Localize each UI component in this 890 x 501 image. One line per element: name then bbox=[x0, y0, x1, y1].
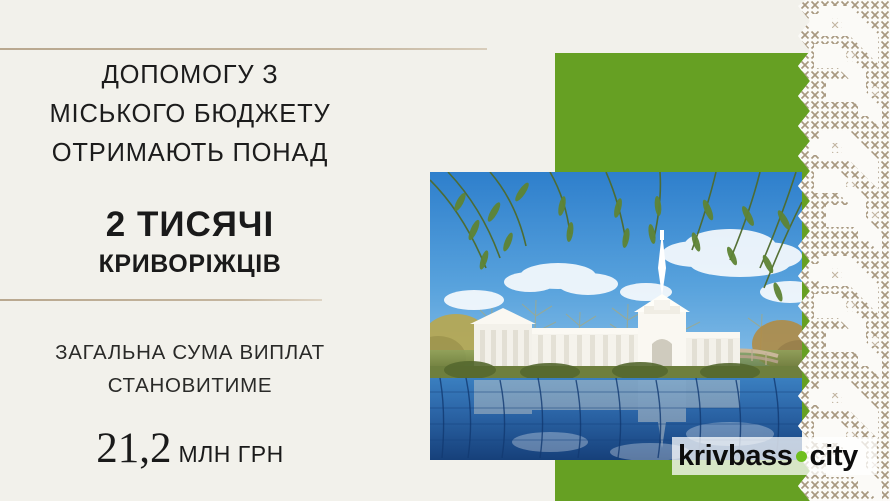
headline-block: ДОПОМОГУ З МІСЬКОГО БЮДЖЕТУ ОТРИМАЮТЬ ПО… bbox=[0, 56, 380, 173]
highlight-count: 2 ТИСЯЧІ bbox=[0, 204, 380, 246]
headline-line-3: ОТРИМАЮТЬ ПОНАД bbox=[0, 134, 380, 173]
poster-canvas: krivbasscity ДОПОМОГУ З МІСЬКОГО БЮДЖЕТУ… bbox=[0, 0, 890, 501]
amount-unit: МЛН ГРН bbox=[179, 441, 284, 467]
logo-suffix: city bbox=[810, 440, 858, 472]
logo-dot-icon bbox=[796, 451, 807, 462]
subhead-block: ЗАГАЛЬНА СУМА ВИПЛАТ СТАНОВИТИМЕ bbox=[0, 336, 380, 402]
divider-top bbox=[0, 48, 487, 50]
amount-value: 21,2 bbox=[96, 425, 171, 472]
site-logo[interactable]: krivbasscity bbox=[678, 440, 858, 473]
headline-line-1: ДОПОМОГУ З bbox=[0, 56, 380, 95]
logo-name: krivbass bbox=[678, 440, 793, 472]
amount-block: 21,2МЛН ГРН bbox=[0, 424, 380, 473]
headline-line-2: МІСЬКОГО БЮДЖЕТУ bbox=[0, 95, 380, 134]
text-column: ДОПОМОГУ З МІСЬКОГО БЮДЖЕТУ ОТРИМАЮТЬ ПО… bbox=[0, 0, 520, 501]
divider-middle bbox=[0, 299, 322, 301]
ukrainian-cross-stitch-border bbox=[780, 0, 890, 501]
subhead-line-2: СТАНОВИТИМЕ bbox=[0, 369, 380, 402]
subhead-line-1: ЗАГАЛЬНА СУМА ВИПЛАТ bbox=[0, 336, 380, 369]
highlight-people: КРИВОРІЖЦІВ bbox=[0, 250, 380, 279]
